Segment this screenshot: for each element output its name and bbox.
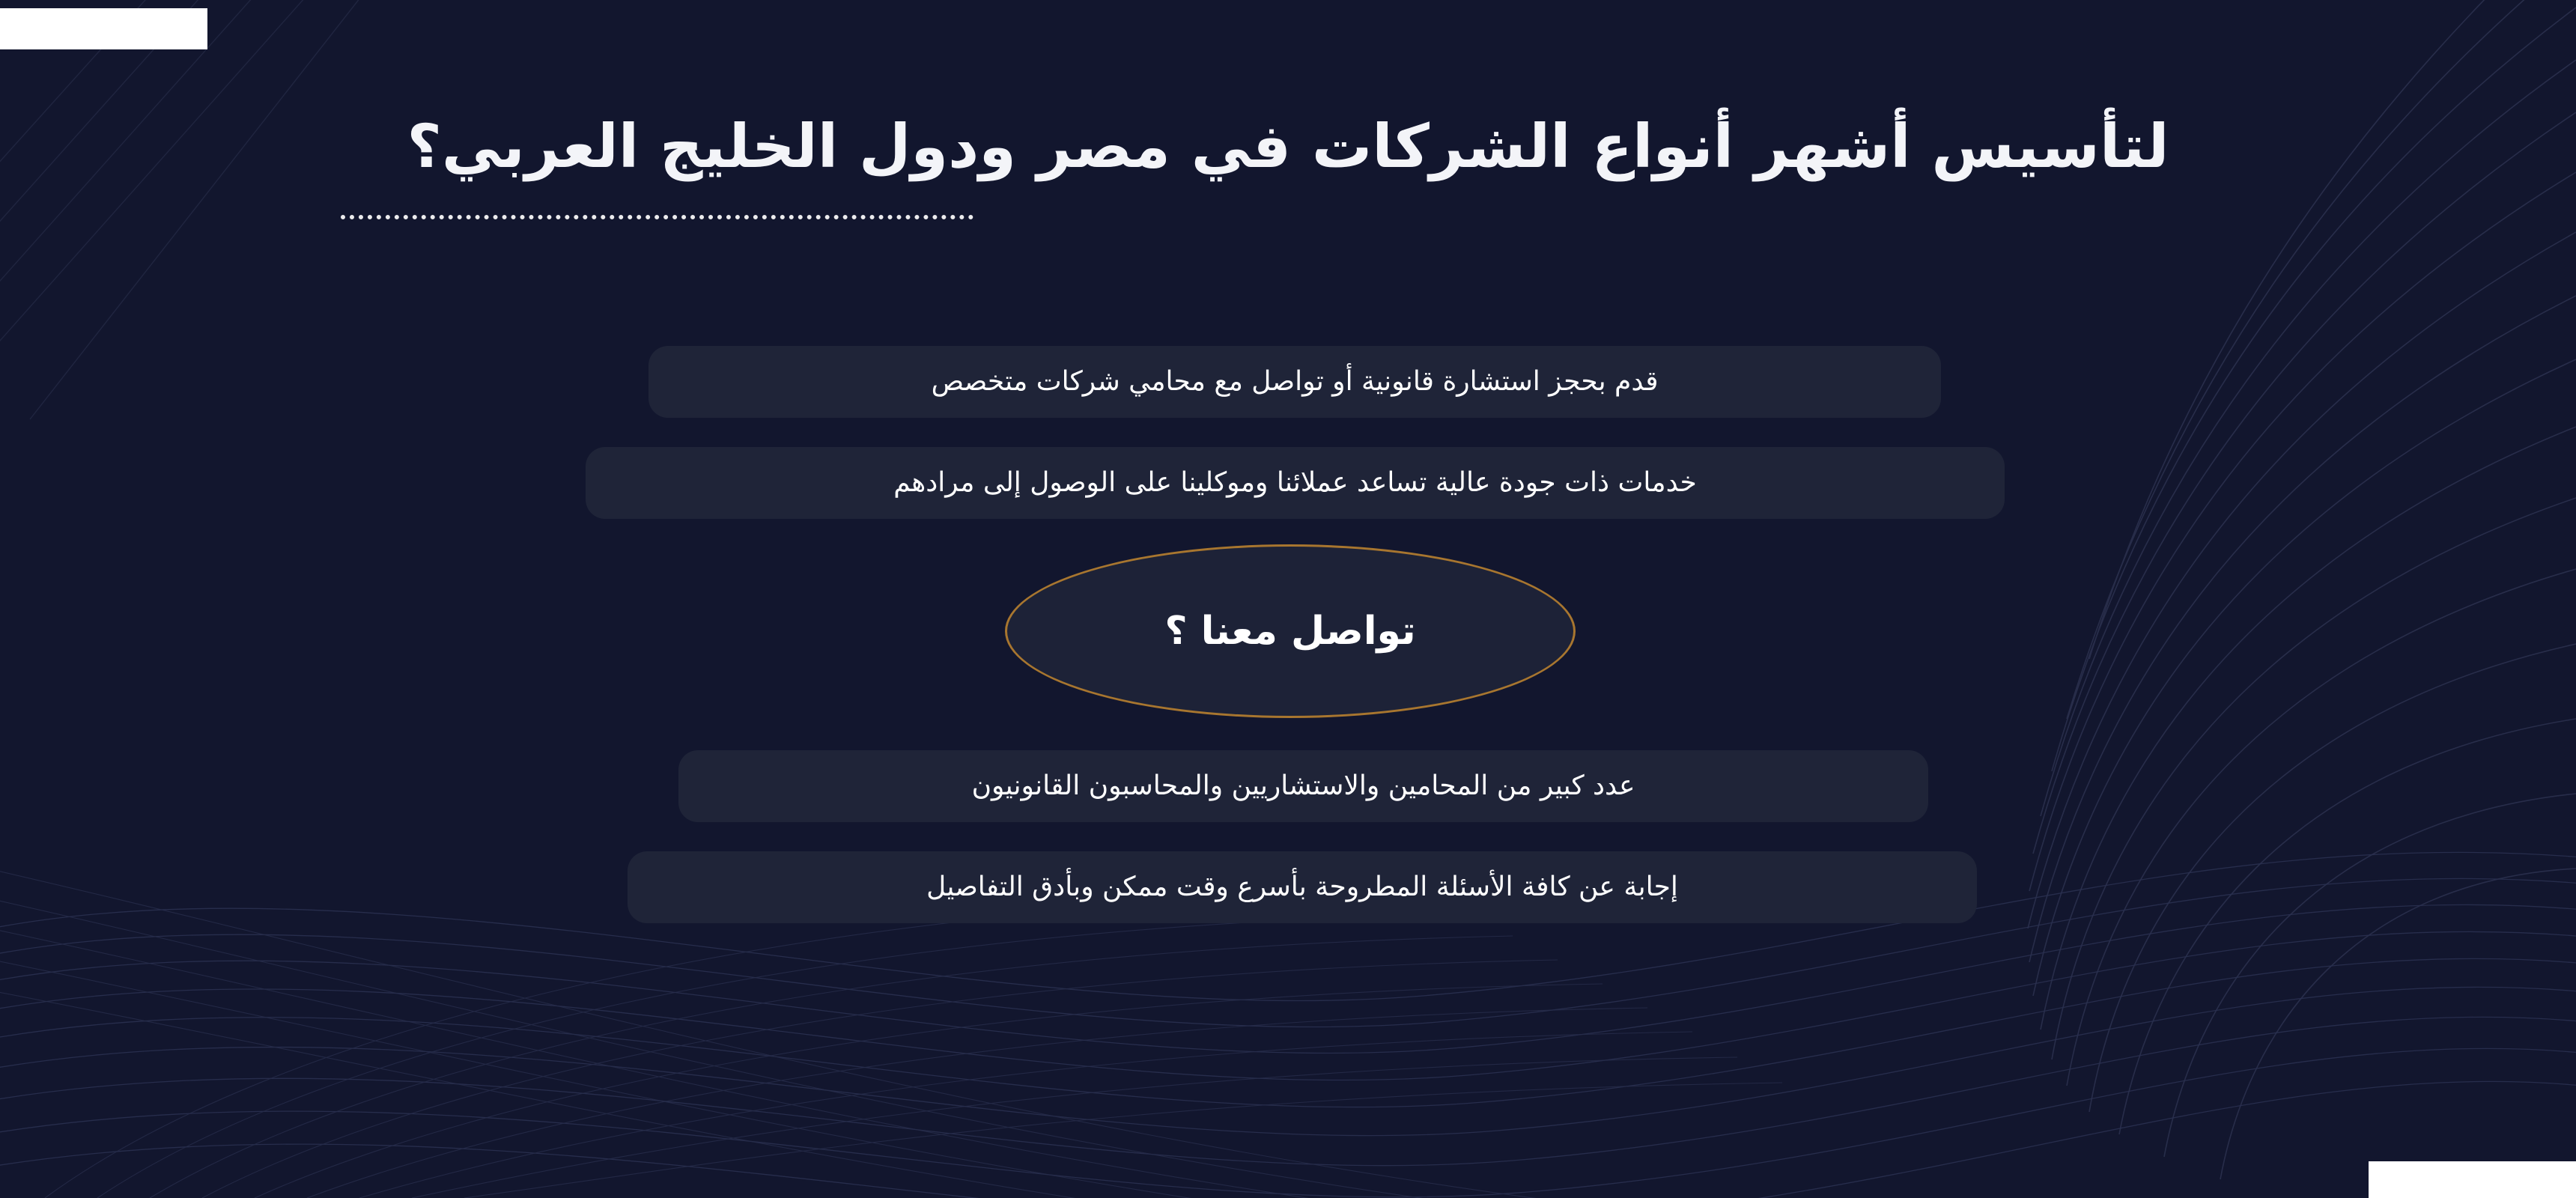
slide-canvas: لتأسيس أشهر أنواع الشركات في مصر ودول ال… xyxy=(0,0,2576,1198)
feature-pill-fast-answers[interactable]: إجابة عن كافة الأسئلة المطروحة بأسرع وقت… xyxy=(628,851,1977,923)
page-title: لتأسيس أشهر أنواع الشركات في مصر ودول ال… xyxy=(0,112,2576,181)
feature-pill-staff-count[interactable]: عدد كبير من المحامين والاستشاريين والمحا… xyxy=(678,750,1928,822)
top-left-white-block xyxy=(0,8,207,49)
contact-us-button[interactable]: تواصل معنا ؟ xyxy=(1005,544,1576,718)
feature-pill-quality-services[interactable]: خدمات ذات جودة عالية تساعد عملائنا وموكل… xyxy=(586,447,2005,519)
bottom-right-white-block xyxy=(2369,1161,2576,1198)
dotted-divider xyxy=(341,215,973,224)
feature-pill-consultation[interactable]: قدم بحجز استشارة قانونية أو تواصل مع محا… xyxy=(648,346,1941,418)
